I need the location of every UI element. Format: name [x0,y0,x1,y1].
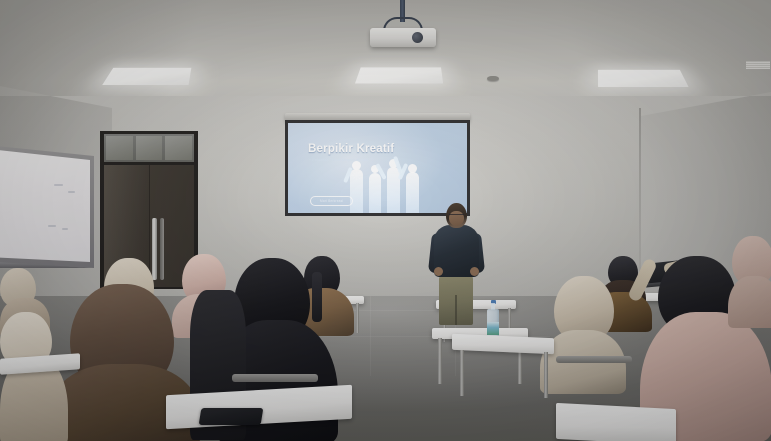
student-foreground-left [0,312,66,441]
transom-pane [165,136,192,160]
student-right-cream [540,276,626,396]
presenter-hand-right [470,267,479,276]
shoulders [728,276,771,328]
slide-figure [350,169,363,213]
desk-leg [438,338,442,384]
chair-back [232,374,318,382]
projection-screen-frame: Berpikir Kreatif ~ Pelatihan Teknik Berp… [285,120,470,216]
whiteboard-mark [62,228,68,230]
desk [556,403,676,441]
slide-figure [387,167,400,213]
slide-title: Berpikir Kreatif [308,143,394,155]
whiteboard[interactable] [0,150,90,262]
chair-back [556,356,632,363]
ceiling-projector [370,28,436,47]
slide-figure [406,172,419,213]
glasses-icon [449,214,464,218]
slide-cta-pill: Mari Berkreasi [310,196,353,206]
projector-lens-icon [412,32,423,43]
classroom-scene: Berpikir Kreatif ~ Pelatihan Teknik Berp… [0,0,771,441]
ceiling-led-center [355,67,443,83]
transom-pane [136,136,163,160]
phone-on-desk[interactable] [199,408,264,425]
desk-leg [460,350,464,396]
bottle-label [487,322,499,335]
smoke-detector-icon [487,76,499,81]
slide-figure-head [408,164,417,173]
slide-subtitle: ~ Pelatihan Teknik Berpikir Kreatif ~ [309,158,371,162]
door-transom-glass [104,134,194,162]
transom-pane [106,136,133,160]
student-far-right [728,236,771,328]
ceiling-shadow-left [0,0,220,104]
presenter-leg-split [455,295,457,325]
slide-figure-head [352,161,361,170]
whiteboard-mark [54,184,63,186]
ceiling-shadow-right [541,0,771,104]
projector-vent [746,61,770,69]
whiteboard-mark [68,191,75,193]
ceiling-led-left [102,68,191,85]
desk-leg [544,352,548,398]
ceiling-led-right [598,70,689,87]
desk-leg [356,303,359,333]
presenter [425,203,487,325]
whiteboard-mark [48,225,56,227]
presenter-hand-left [434,267,443,276]
projection-screen: Berpikir Kreatif ~ Pelatihan Teknik Berp… [288,123,467,213]
slide-figure [369,173,381,213]
